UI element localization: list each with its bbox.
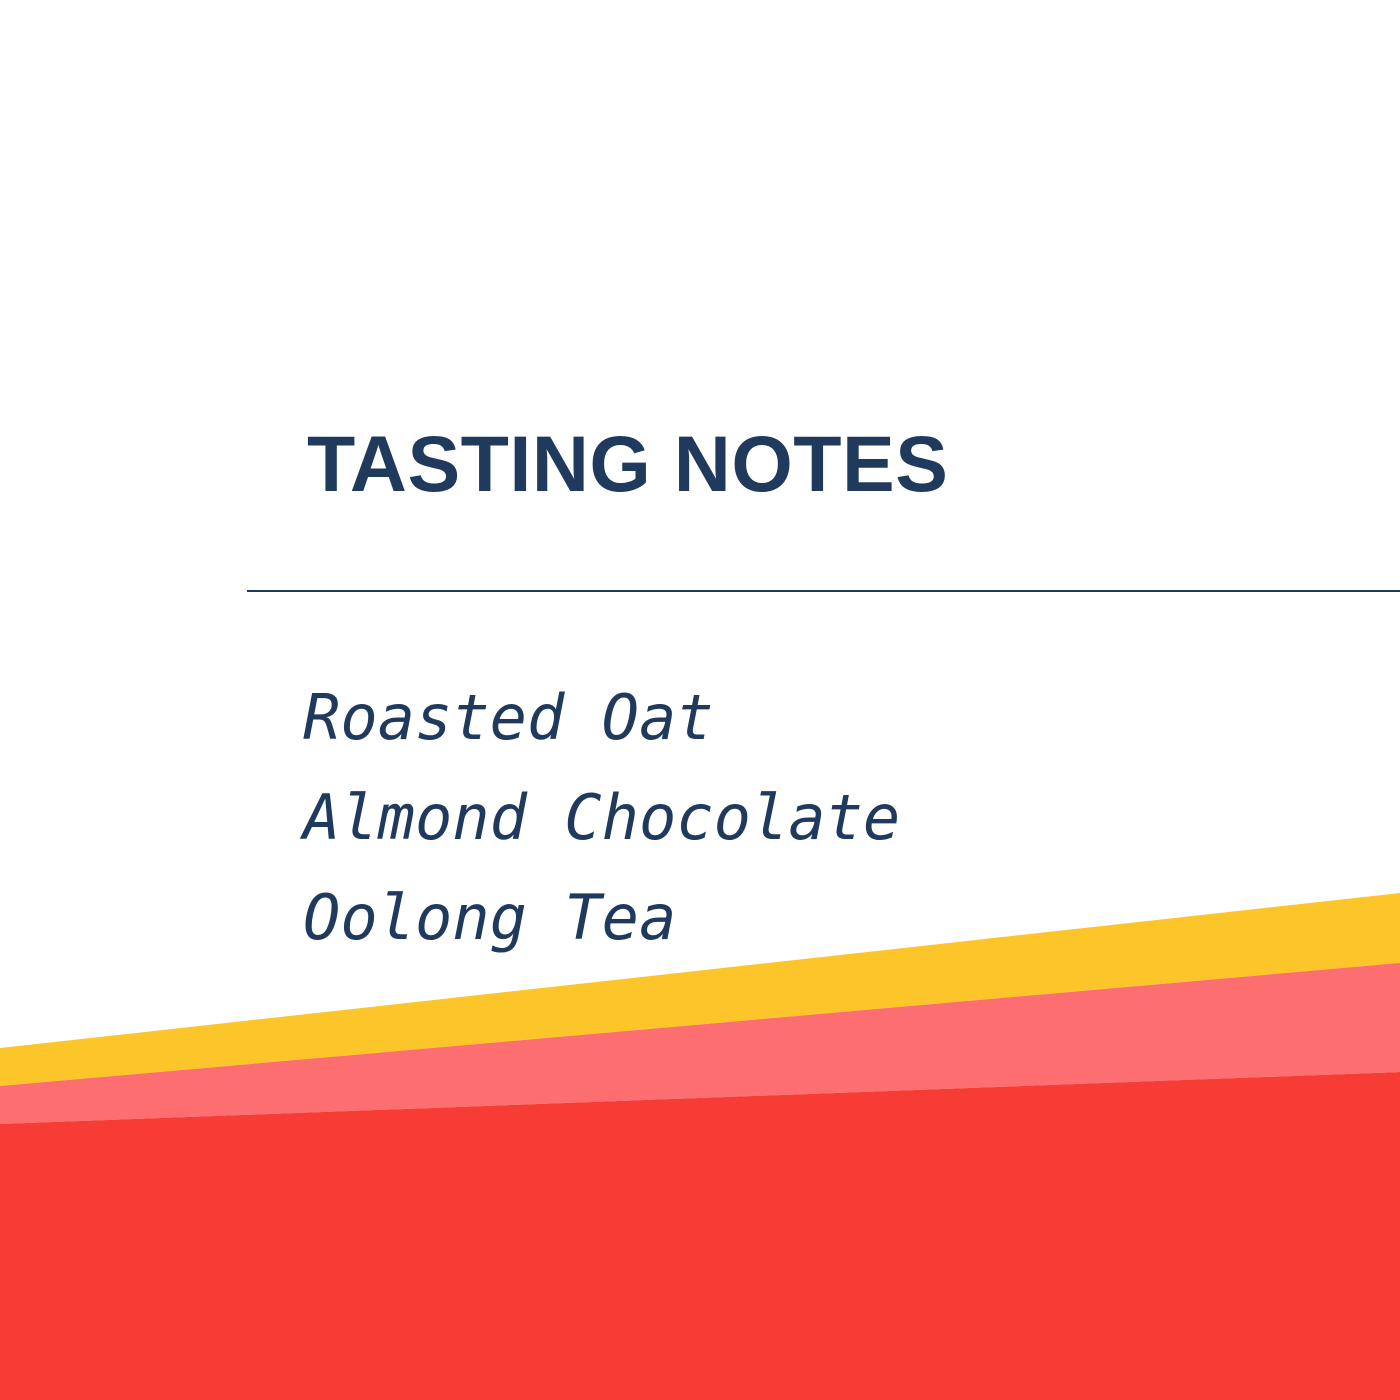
title-divider bbox=[247, 590, 1400, 592]
list-item: Oolong Tea bbox=[303, 868, 900, 968]
page-title: TASTING NOTES bbox=[307, 424, 948, 503]
list-item: Roasted Oat bbox=[303, 668, 900, 768]
tasting-notes-list: Roasted Oat Almond Chocolate Oolong Tea bbox=[303, 668, 900, 968]
tasting-notes-card: TASTING NOTES Roasted Oat Almond Chocola… bbox=[0, 0, 1400, 1400]
card-content: TASTING NOTES Roasted Oat Almond Chocola… bbox=[0, 0, 1400, 1400]
list-item: Almond Chocolate bbox=[303, 768, 900, 868]
